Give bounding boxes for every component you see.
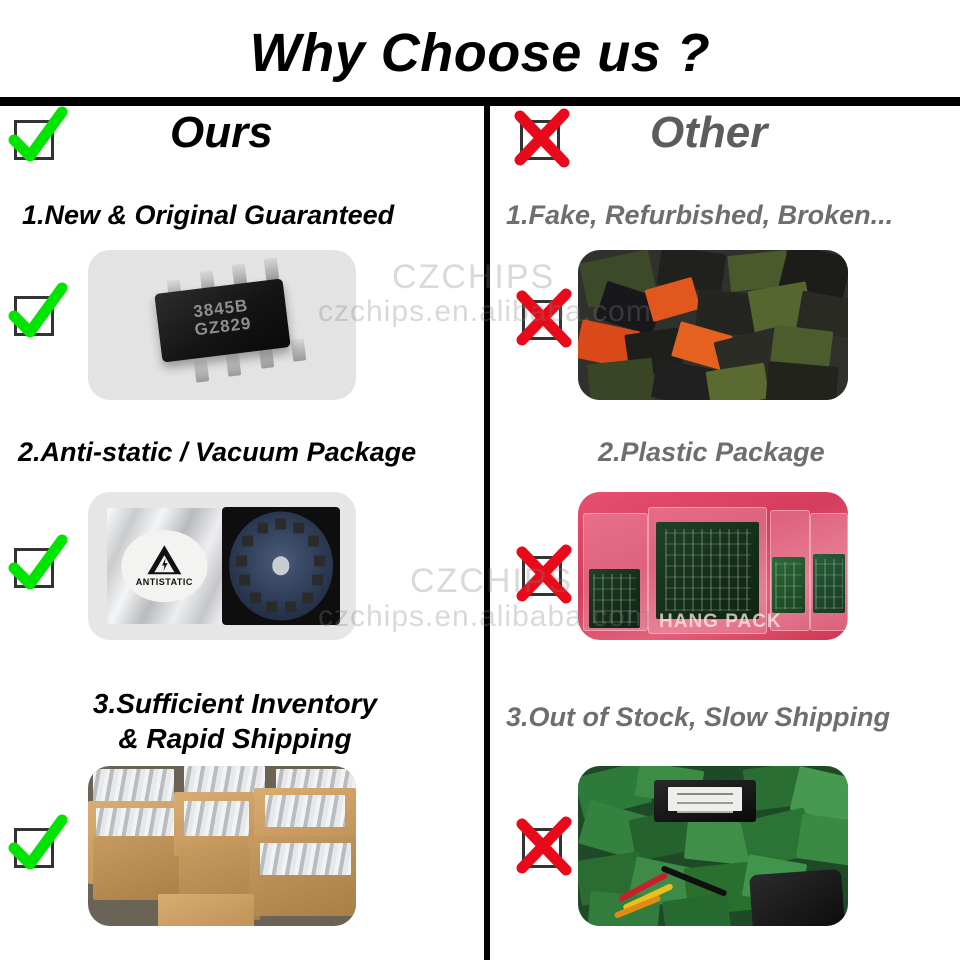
row-3-cross-icon [516, 820, 572, 876]
check-glyph [4, 282, 68, 346]
check-glyph [4, 534, 68, 598]
foil-bag: ANTISTATIC [107, 508, 222, 623]
module-label [668, 787, 742, 811]
chip-scene: 3845B GZ829 [88, 250, 356, 400]
row-1-right-title: 1.Fake, Refurbished, Broken... [506, 200, 956, 230]
cartons-scene [88, 766, 356, 926]
row-3-check-icon [8, 820, 64, 876]
black-module [654, 780, 757, 822]
row-1-check-icon [8, 288, 64, 344]
component-reel [222, 507, 340, 625]
column-heading-other: Other [650, 108, 767, 158]
scrap-chips-scene [578, 250, 848, 400]
row-3-left-title-line-1: 3.Sufficient Inventory [0, 688, 470, 719]
row-2-left-photo: ANTISTATIC [88, 492, 356, 640]
row-3-right-photo [578, 766, 848, 926]
row-2-cross-icon [516, 548, 572, 604]
antistatic-label: ANTISTATIC [122, 530, 207, 602]
row-1-left-photo: 3845B GZ829 [88, 250, 356, 400]
cross-glyph [512, 814, 576, 878]
check-icon [8, 112, 64, 168]
antistatic-scene: ANTISTATIC [88, 492, 356, 640]
why-choose-us-infographic: Why Choose us ? Ours Other 1.New & Origi… [0, 0, 960, 960]
row-2-right-photo: HANG PACK [578, 492, 848, 640]
plastic-pack-text: HANG PACK [659, 611, 782, 633]
row-1-cross-icon [516, 292, 572, 348]
check-glyph [4, 106, 68, 170]
header-divider [0, 97, 960, 106]
esd-warning-icon [147, 545, 181, 574]
reel-hub [272, 557, 290, 576]
cross-glyph [512, 542, 576, 606]
row-2-right-title: 2.Plastic Package [598, 437, 958, 467]
row-2-left-title: 2.Anti-static / Vacuum Package [18, 437, 478, 467]
row-2-check-icon [8, 540, 64, 596]
row-3-right-title: 3.Out of Stock, Slow Shipping [506, 702, 958, 732]
column-divider [484, 100, 490, 960]
row-3-left-photo [88, 766, 356, 926]
page-title: Why Choose us ? [0, 22, 960, 84]
column-heading-ours: Ours [170, 108, 273, 158]
antistatic-label-text: ANTISTATIC [136, 577, 193, 587]
reel-disc [229, 512, 333, 621]
plastic-package-scene: HANG PACK [578, 492, 848, 640]
check-glyph [4, 814, 68, 878]
cross-glyph [510, 106, 574, 170]
green-scrap-scene [578, 766, 848, 926]
row-3-left-title-line-2: & Rapid Shipping [0, 723, 470, 754]
cross-icon [514, 112, 570, 168]
row-1-left-title: 1.New & Original Guaranteed [22, 200, 472, 230]
row-1-right-photo [578, 250, 848, 400]
cross-glyph [512, 286, 576, 350]
